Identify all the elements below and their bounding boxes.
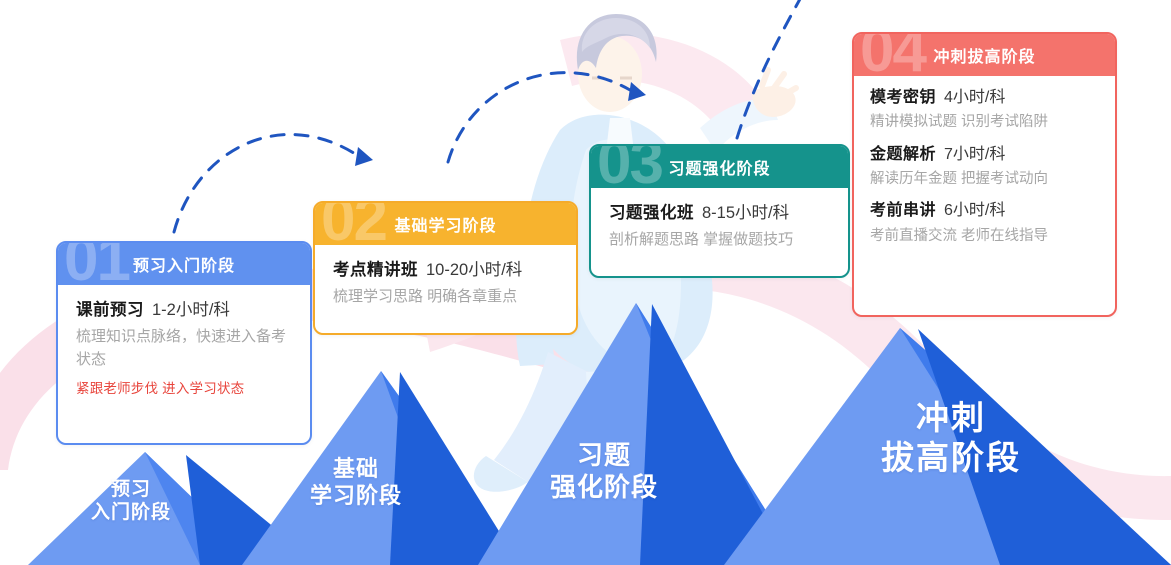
arrow-stage3-to-stage4-path [737, 0, 806, 138]
course-item: 模考密钥4小时/科 精讲模拟试题 识别考试陷阱 [870, 86, 1101, 134]
course-hours: 1-2小时/科 [152, 301, 230, 319]
stage-card-3-body: 习题强化班8-15小时/科 剖析解题思路 掌握做题技巧 [591, 188, 848, 265]
mountain-label-stage-4: 冲刺 拔高阶段 [841, 398, 1061, 479]
course-description: 解读历年金题 把握考试动向 [870, 168, 1101, 190]
arrow-head-2 [628, 82, 646, 101]
stage-card-3-header: 03 习题强化阶段 [591, 146, 848, 188]
course-description: 精讲模拟试题 识别考试陷阱 [870, 111, 1101, 133]
course-item: 考点精讲班10-20小时/科 梳理学习思路 明确各章重点 [333, 259, 560, 308]
stage-number-watermark-4: 04 [860, 34, 925, 76]
stage-card-4-body: 模考密钥4小时/科 精讲模拟试题 识别考试陷阱 金题解析7小时/科 解读历年金题… [854, 76, 1115, 259]
course-title-row: 金题解析7小时/科 [870, 143, 1101, 166]
infographic-canvas: 预习 入门阶段 基础 学习阶段 习题 强化阶段 冲刺 拔高阶段 01 预习入门阶… [0, 0, 1171, 565]
course-description: 剖析解题思路 掌握做题技巧 [609, 228, 832, 251]
stage-card-1-body: 课前预习1-2小时/科 梳理知识点脉络，快速进入备考状态 紧跟老师步伐 进入学习… [58, 285, 310, 414]
course-item: 习题强化班8-15小时/科 剖析解题思路 掌握做题技巧 [609, 202, 832, 251]
course-name: 金题解析 [870, 146, 936, 163]
course-hours: 4小时/科 [944, 89, 1005, 106]
course-item: 考前串讲6小时/科 考前直播交流 老师在线指导 [870, 199, 1101, 247]
stage-card-3[interactable]: 03 习题强化阶段 习题强化班8-15小时/科 剖析解题思路 掌握做题技巧 [589, 144, 850, 278]
course-hours: 6小时/科 [944, 202, 1005, 219]
arrow-head-1 [355, 147, 373, 166]
course-title-row: 习题强化班8-15小时/科 [609, 202, 832, 226]
stage-card-2-body: 考点精讲班10-20小时/科 梳理学习思路 明确各章重点 [315, 245, 576, 322]
course-description: 考前直播交流 老师在线指导 [870, 225, 1101, 247]
course-name: 习题强化班 [609, 204, 694, 222]
stage-card-1[interactable]: 01 预习入门阶段 课前预习1-2小时/科 梳理知识点脉络，快速进入备考状态 紧… [56, 241, 312, 445]
course-hours: 10-20小时/科 [426, 261, 522, 279]
mountain-label-stage-3: 习题 强化阶段 [519, 440, 689, 503]
stage-number-watermark-3: 03 [597, 146, 662, 188]
course-title-row: 考点精讲班10-20小时/科 [333, 259, 560, 283]
course-item: 金题解析7小时/科 解读历年金题 把握考试动向 [870, 143, 1101, 191]
course-name: 课前预习 [76, 301, 144, 319]
course-name: 考前串讲 [870, 202, 936, 219]
course-name: 考点精讲班 [333, 261, 418, 279]
course-hours: 7小时/科 [944, 146, 1005, 163]
stage-card-1-note: 紧跟老师步伐 进入学习状态 [76, 379, 294, 399]
course-description: 梳理知识点脉络，快速进入备考状态 [76, 325, 294, 372]
stage-card-4[interactable]: 04 冲刺拔高阶段 模考密钥4小时/科 精讲模拟试题 识别考试陷阱 金题解析7小… [852, 32, 1117, 317]
stage-number-watermark-1: 01 [64, 243, 129, 285]
course-hours: 8-15小时/科 [702, 204, 789, 222]
course-item: 课前预习1-2小时/科 梳理知识点脉络，快速进入备考状态 [76, 299, 294, 371]
stage-card-1-header: 01 预习入门阶段 [58, 243, 310, 285]
course-title-row: 模考密钥4小时/科 [870, 86, 1101, 109]
stage-card-2-title: 基础学习阶段 [394, 212, 496, 236]
mountain-label-stage-1: 预习 入门阶段 [66, 478, 196, 524]
stage-card-4-header: 04 冲刺拔高阶段 [854, 34, 1115, 76]
course-description: 梳理学习思路 明确各章重点 [333, 285, 560, 308]
stage-number-watermark-2: 02 [321, 203, 386, 245]
stage-card-4-title: 冲刺拔高阶段 [933, 43, 1035, 67]
stage-card-2[interactable]: 02 基础学习阶段 考点精讲班10-20小时/科 梳理学习思路 明确各章重点 [313, 201, 578, 335]
stage-card-2-header: 02 基础学习阶段 [315, 203, 576, 245]
stage-card-3-title: 习题强化阶段 [668, 155, 770, 179]
stage-card-1-title: 预习入门阶段 [133, 252, 235, 276]
mountain-label-stage-2: 基础 学习阶段 [283, 456, 429, 510]
course-title-row: 课前预习1-2小时/科 [76, 299, 294, 323]
course-title-row: 考前串讲6小时/科 [870, 199, 1101, 222]
course-name: 模考密钥 [870, 89, 936, 106]
